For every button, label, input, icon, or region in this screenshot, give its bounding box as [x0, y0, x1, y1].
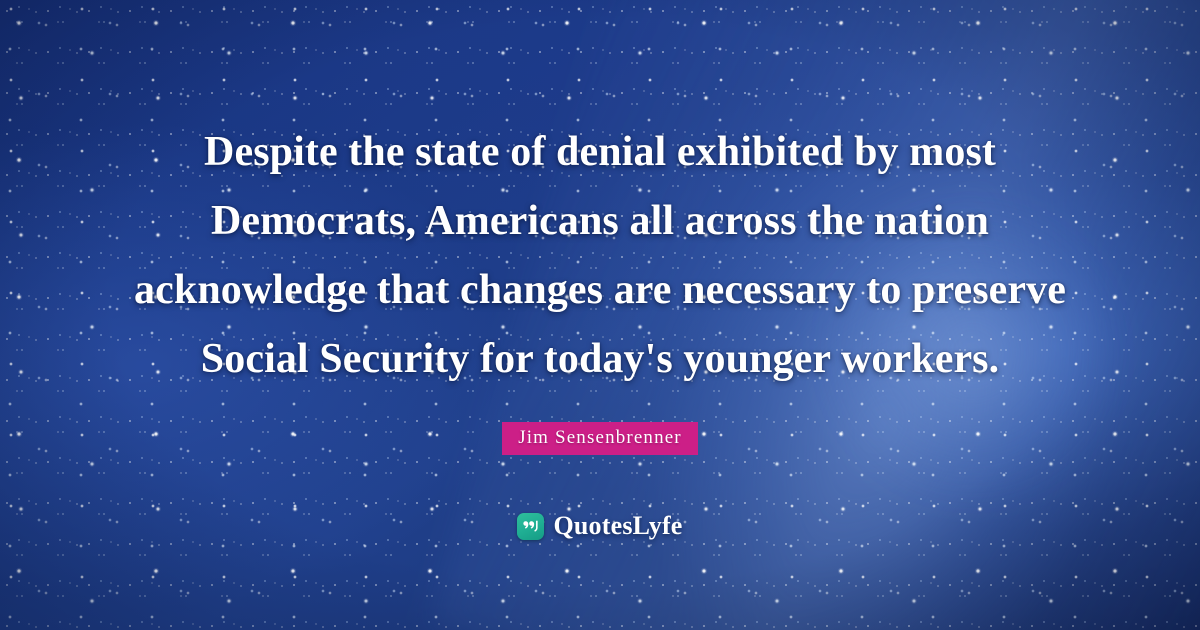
brand-lockup: QuotesLyfe: [517, 511, 682, 541]
quote-text: Despite the state of denial exhibited by…: [120, 118, 1080, 394]
quote-card: Despite the state of denial exhibited by…: [0, 0, 1200, 630]
brand-name: QuotesLyfe: [553, 511, 682, 541]
card-content: Despite the state of denial exhibited by…: [0, 0, 1200, 630]
author-badge: Jim Sensenbrenner: [502, 422, 698, 455]
quote-bubble-icon: [517, 513, 544, 540]
